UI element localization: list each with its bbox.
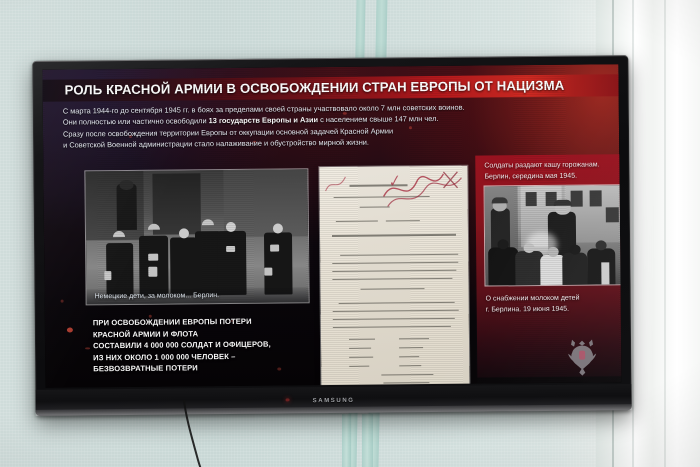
power-cable [176,398,296,467]
door-edge [664,0,666,467]
document-red-marks [377,166,469,223]
caption-top-line-2: Берлин, середина мая 1945. [484,171,621,183]
photo-right-caption-top: Солдаты раздают кашу горожанам. Берлин, … [484,160,621,182]
double-headed-eagle-icon [565,336,599,376]
photo-right-caption-bottom: О снабжении молоком детей г. Берлина. 19… [486,292,622,315]
document-corner-stamp [321,169,355,199]
wall-stripe [362,414,373,467]
body-line-2-post: с населением свыше 147 млн чел. [318,114,439,124]
right-column-panel: Солдаты раздают кашу горожанам. Берлин, … [475,154,621,378]
photo-german-children: Немецкие дети, за молоком... Берлин. [85,169,308,304]
door-edge [632,0,634,467]
statement-line-5: БЕЗВОЗВРАТНЫЕ ПОТЕРИ [93,361,323,375]
presentation-slide: РОЛЬ КРАСНОЙ АРМИИ В ОСВОБОЖДЕНИИ СТРАН … [42,64,621,388]
caption-bottom-line-2: г. Берлина. 19 июня 1945. [486,303,622,315]
archive-document: ✓ [319,166,469,388]
losses-statement: ПРИ ОСВОБОЖДЕНИИ ЕВРОПЫ ПОТЕРИ КРАСНОЙ А… [93,315,324,375]
photo-scene: РОЛЬ КРАСНОЙ АРМИИ В ОСВОБОЖДЕНИИ СТРАН … [0,0,700,467]
tv-brand-logo: SAMSUNG [313,398,355,404]
television: РОЛЬ КРАСНОЙ АРМИИ В ОСВОБОЖДЕНИИ СТРАН … [32,55,631,416]
tv-screen: РОЛЬ КРАСНОЙ АРМИИ В ОСВОБОЖДЕНИИ СТРАН … [42,64,621,388]
body-line-2-bold: 13 государств Европы и Азии [209,116,318,126]
photo-right-artwork [485,185,622,285]
photo-left-caption: Немецкие дети, за молоком... Берлин. [87,287,309,304]
body-line-2-pre: Они полностью или частично освободили [63,117,209,127]
wall-stripe [342,414,351,467]
slide-body: С марта 1944-го до сентября 1945 гг. в б… [63,100,605,151]
photo-left-artwork [85,169,308,304]
photo-soldiers-distributing-food [485,185,622,285]
